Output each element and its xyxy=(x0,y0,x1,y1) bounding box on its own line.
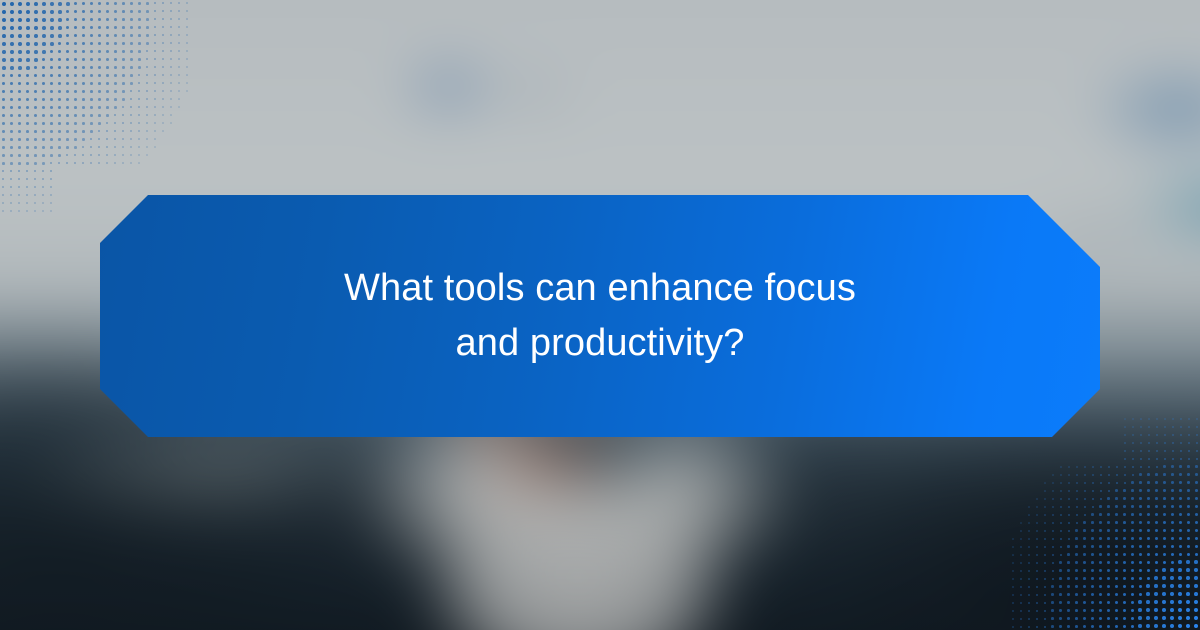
question-banner: What tools can enhance focus and product… xyxy=(100,195,1100,437)
question-title: What tools can enhance focus and product… xyxy=(290,261,910,371)
screenshot-canvas: What tools can enhance focus and product… xyxy=(0,0,1200,630)
